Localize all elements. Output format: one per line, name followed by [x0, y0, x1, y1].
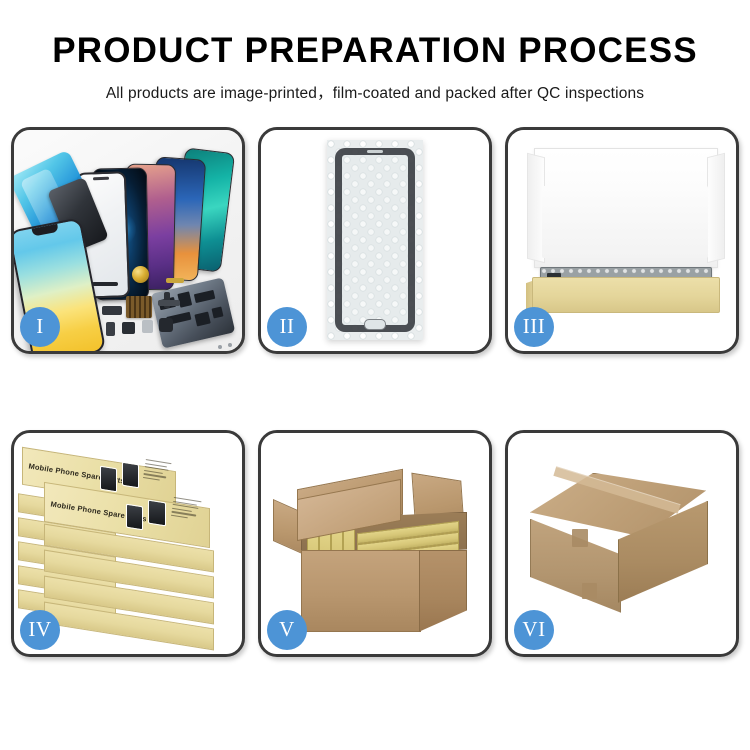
step-badge-1: I: [20, 307, 60, 347]
flex-cable-part: [158, 300, 180, 306]
process-step-panel-3[interactable]: III: [505, 127, 739, 354]
step-badge-4: IV: [20, 610, 60, 650]
connector-part: [106, 322, 115, 336]
tape-tab-lower: [582, 583, 597, 599]
kraft-box-base: [532, 277, 720, 313]
connector-part: [122, 322, 135, 334]
connector-part: [102, 306, 122, 315]
page-title: PRODUCT PREPARATION PROCESS: [0, 33, 750, 70]
process-step-grid: I II III: [6, 127, 744, 657]
page-header: PRODUCT PREPARATION PROCESS All products…: [0, 0, 750, 103]
screw-part: [228, 343, 232, 347]
retail-box-spec-lines: [142, 459, 171, 484]
retail-box-phone-graphic: [100, 465, 117, 492]
process-step-panel-1[interactable]: I: [11, 127, 245, 354]
step-badge-3: III: [514, 307, 554, 347]
chip-grid-component: [126, 296, 152, 318]
retail-box-phone-graphic: [126, 503, 143, 530]
process-step-panel-5[interactable]: V: [258, 430, 492, 657]
speaker-part: [142, 320, 153, 333]
retail-box-phone-graphic: [148, 499, 166, 526]
flex-cable-part: [92, 282, 118, 286]
flex-cable-part: [166, 278, 184, 283]
bubble-wrap-sheet: [327, 140, 423, 340]
foam-insert: [542, 186, 708, 258]
earpiece-slot: [367, 150, 383, 153]
process-step-panel-2[interactable]: II: [258, 127, 492, 354]
step-badge-6: VI: [514, 610, 554, 650]
phone-screen-assembly: [335, 148, 415, 332]
page-subtitle: All products are image-printed，film-coat…: [0, 81, 750, 103]
camera-module-gold: [132, 266, 149, 283]
screw-part: [218, 345, 222, 349]
tape-tab-upper: [572, 529, 588, 547]
battery-connector-part: [159, 318, 173, 332]
step-badge-2: II: [267, 307, 307, 347]
retail-box-phone-graphic: [122, 461, 139, 488]
process-step-panel-6[interactable]: VI: [505, 430, 739, 657]
carton-front-face: [301, 550, 421, 632]
home-button: [364, 319, 386, 330]
step-badge-5: V: [267, 610, 307, 650]
retail-box-spec-lines: [170, 497, 201, 523]
process-step-panel-4[interactable]: Mobile Phone Spare Parts Mobile Phone Sp…: [11, 430, 245, 657]
